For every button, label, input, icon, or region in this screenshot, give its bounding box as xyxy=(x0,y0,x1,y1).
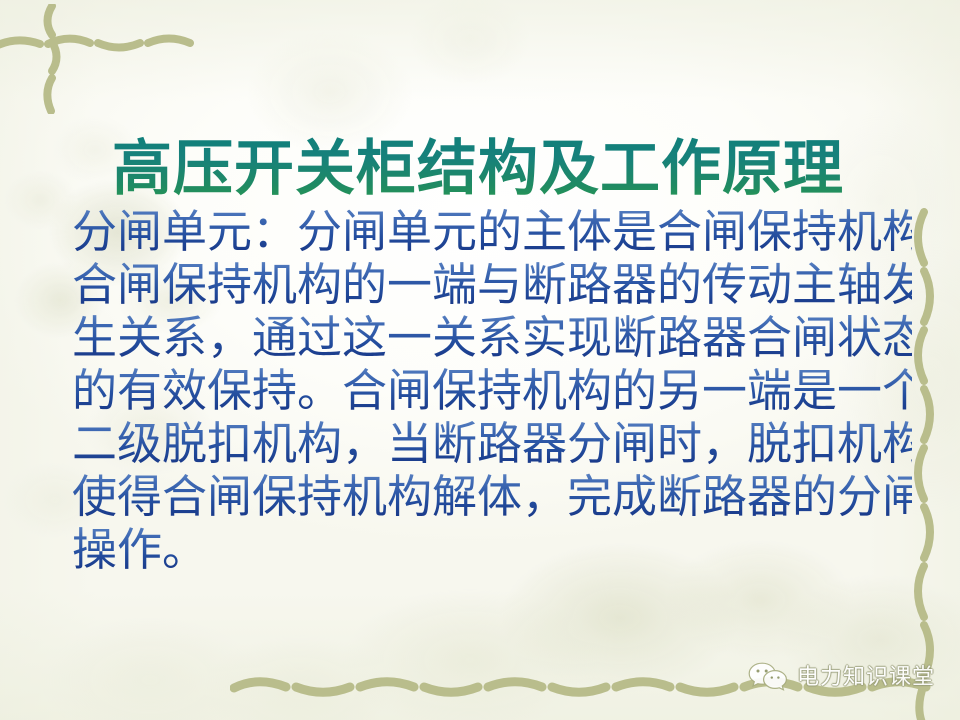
body-line: 合闸保持机构的一端与断路器的传动主轴发 xyxy=(72,259,912,312)
wechat-icon xyxy=(748,660,788,694)
watermark: 电力知识课堂 xyxy=(748,660,935,694)
body-line: 分闸单元：分闸单元的主体是合闸保持机构。 xyxy=(72,206,912,259)
body-line: 操作。 xyxy=(72,524,912,577)
bamboo-stem-top-vertical-icon xyxy=(38,4,66,114)
page-title: 高压开关柜结构及工作原理 xyxy=(112,132,872,206)
body-line: 生关系，通过这一关系实现断路器合闸状态 xyxy=(72,312,912,365)
body-line: 二级脱扣机构，当断路器分闸时，脱扣机构 xyxy=(72,418,912,471)
body-line: 的有效保持。合闸保持机构的另一端是一个 xyxy=(72,365,912,418)
bamboo-stem-top-horizontal-icon xyxy=(0,30,206,56)
body-line: 使得合闸保持机构解体，完成断路器的分闸 xyxy=(72,471,912,524)
watermark-label: 电力知识课堂 xyxy=(797,664,935,690)
presentation-slide: 高压开关柜结构及工作原理 分闸单元：分闸单元的主体是合闸保持机构。 合闸保持机构… xyxy=(0,0,960,720)
body-text-block: 分闸单元：分闸单元的主体是合闸保持机构。 合闸保持机构的一端与断路器的传动主轴发… xyxy=(72,206,912,577)
